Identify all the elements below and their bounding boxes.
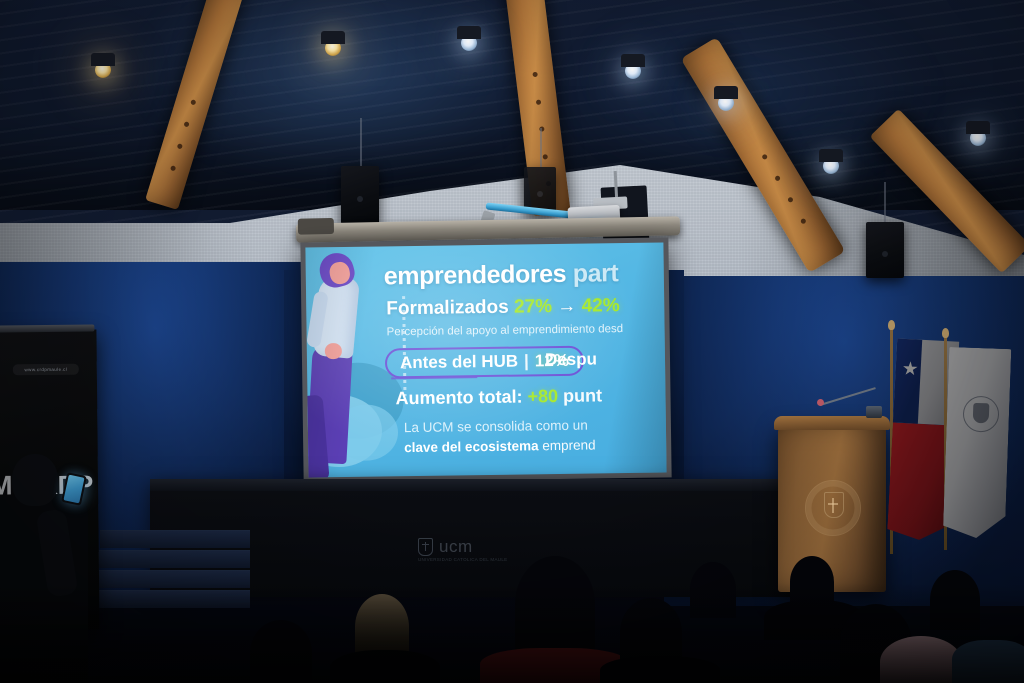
speaker-hanging-rod (540, 128, 542, 168)
slide-metric-label: Formalizados (386, 297, 509, 320)
projected-slide: emprendedores part Formalizados 27% → 42… (305, 243, 666, 478)
illustration-figure-hand (325, 343, 342, 359)
slide-metric-after: 42% (581, 295, 619, 317)
slide-caption: Percepción del apoyo al emprendimiento d… (387, 323, 624, 338)
stage-venue-logo: ucm (418, 537, 473, 557)
spotlight-housing (91, 53, 115, 66)
stage-edge (150, 479, 810, 491)
banner-url-pill: www.crdpmaule.cl (13, 364, 79, 376)
slide-metric-before: 27% (514, 296, 552, 318)
speaker-hanging-rod (884, 182, 886, 222)
microphone-gooseneck (820, 387, 876, 406)
audience-shoulders (600, 656, 720, 683)
slide-heading-main: emprendedores (384, 260, 567, 291)
slide-total-row: Aumento total: +80 punt (395, 385, 602, 409)
spotlight-housing (819, 149, 843, 162)
ceiling-spotlight (461, 35, 477, 51)
seal-cross-detail (828, 503, 838, 505)
ceiling-spotlight (95, 62, 111, 78)
wall-speaker-left (341, 166, 379, 224)
slide-heading: emprendedores part (384, 259, 619, 291)
spotlight-housing (966, 121, 990, 134)
pill-divider: | (524, 351, 529, 371)
spotlight-housing (321, 31, 345, 44)
ceiling-spotlight (970, 130, 986, 146)
slide-footer-line-2: clave del ecosistema emprend (404, 437, 596, 455)
spotlight-housing (621, 54, 645, 67)
slide-footer-bold: clave del ecosistema (404, 438, 539, 455)
ceiling-spotlight (718, 95, 734, 111)
slide-after-hub-label: Despu (545, 349, 597, 370)
slide-total-label: Aumento total: (395, 386, 522, 408)
smartphone-screen (63, 475, 84, 504)
screen-frame: emprendedores part Formalizados 27% → 42… (300, 237, 671, 482)
audience-head (250, 620, 312, 683)
stage-logo-text: ucm (439, 537, 473, 557)
banner-top-rail (0, 324, 94, 332)
pill-underline-accent (391, 376, 477, 379)
spotlight-housing (457, 26, 481, 39)
photographer-head (12, 454, 58, 506)
slide-footer-tail: emprend (542, 437, 596, 453)
auditorium-scene: emprendedores part Formalizados 27% → 42… (0, 0, 1024, 683)
flag-pole-finial (942, 328, 949, 338)
spotlight-housing (714, 86, 738, 99)
podium-microphone (820, 388, 882, 422)
microphone-base (866, 406, 882, 418)
flag-pole-finial (888, 320, 895, 330)
slide-heading-tail: part (573, 259, 619, 288)
audience-photographer (0, 448, 110, 683)
wall-speaker-right (866, 222, 904, 278)
ceiling-spotlight (625, 63, 641, 79)
slide-total-unit: punt (563, 385, 602, 406)
microphone-capsule (817, 399, 824, 406)
projection-screen: emprendedores part Formalizados 27% → 42… (302, 228, 674, 490)
banner-url-text: www.crdpmaule.cl (24, 367, 67, 372)
audience-shoulders (952, 640, 1024, 683)
slide-metric-arrow: → (557, 296, 576, 317)
slide-metric-row: Formalizados 27% → 42% (386, 295, 620, 320)
ceiling-spotlight (325, 40, 341, 56)
ucm-crest-icon (418, 538, 433, 556)
stage-logo-subtitle: UNIVERSIDAD CATOLICA DEL MAULE (418, 557, 507, 562)
audience-head (515, 556, 595, 654)
step (100, 530, 250, 548)
audience-head-hooded (880, 636, 962, 683)
pill-label: Antes del HUB (400, 352, 518, 374)
slide-footer-line-1: La UCM se consolida como un (404, 418, 588, 436)
speaker-hanging-rod (360, 118, 362, 168)
audience-head (690, 562, 736, 618)
podium-ucm-seal (805, 480, 861, 536)
flag-blue-canton (893, 339, 922, 424)
ceiling-spotlight (823, 158, 839, 174)
slide-pill-row: Antes del HUB | 12% Despu (385, 342, 667, 381)
slide-text-block: emprendedores part Formalizados 27% → 42… (383, 243, 666, 477)
audience-head (930, 570, 980, 630)
institutional-flag (943, 347, 1012, 539)
audience-shoulders (330, 650, 440, 683)
slide-total-value: +80 (527, 386, 558, 406)
flag-cloth (943, 347, 1012, 539)
